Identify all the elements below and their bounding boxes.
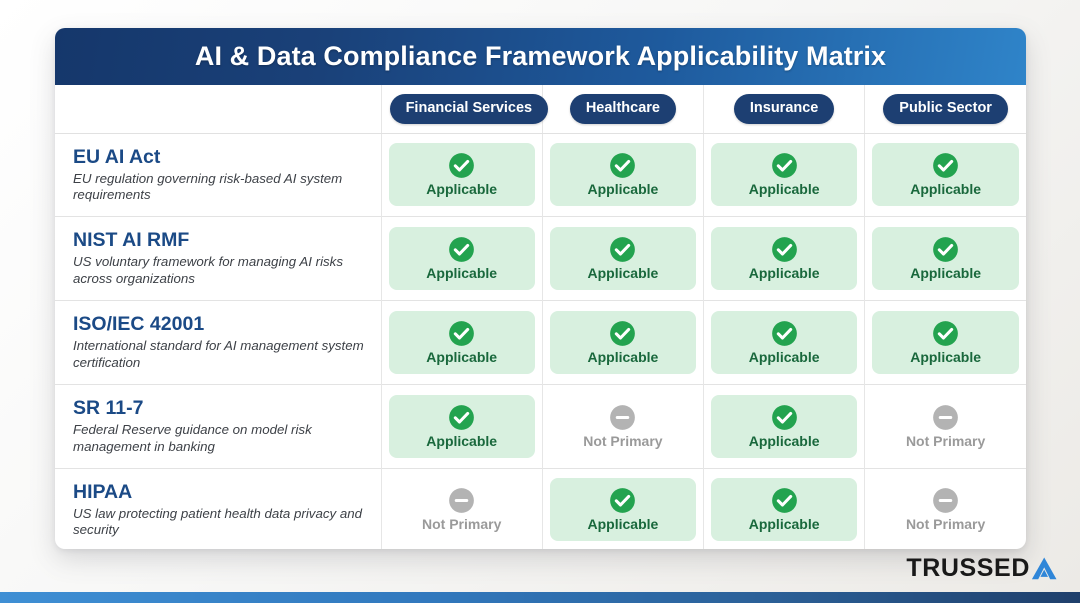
check-circle-icon	[932, 152, 959, 179]
column-header-cell: Insurance	[704, 85, 865, 133]
table-row: HIPAAUS law protecting patient health da…	[55, 468, 1026, 549]
framework-label-cell: SR 11-7Federal Reserve guidance on model…	[55, 384, 381, 468]
table-header: Financial Services Healthcare Insurance …	[55, 85, 1026, 133]
column-header-pill-financial-services[interactable]: Financial Services	[390, 94, 549, 124]
framework-label-cell: HIPAAUS law protecting patient health da…	[55, 468, 381, 549]
status-badge-applicable[interactable]: Applicable	[550, 227, 696, 290]
status-cell-wrapper: Applicable	[382, 221, 542, 296]
check-circle-icon	[609, 152, 636, 179]
status-cell-wrapper: Applicable	[704, 305, 864, 380]
status-cell[interactable]: Not Primary	[865, 384, 1026, 468]
status-badge-not-primary[interactable]: Not Primary	[872, 395, 1019, 458]
status-cell-wrapper: Applicable	[543, 137, 703, 212]
status-label: Applicable	[426, 182, 497, 196]
status-cell[interactable]: Applicable	[381, 384, 542, 468]
status-badge-not-primary[interactable]: Not Primary	[550, 395, 696, 458]
applicability-matrix-table: Financial Services Healthcare Insurance …	[55, 85, 1026, 549]
status-badge-applicable[interactable]: Applicable	[872, 311, 1019, 374]
check-circle-icon	[771, 320, 798, 347]
status-cell-wrapper: Applicable	[382, 305, 542, 380]
status-label: Applicable	[588, 182, 659, 196]
status-cell-wrapper: Applicable	[704, 389, 864, 464]
status-badge-applicable[interactable]: Applicable	[872, 227, 1019, 290]
status-badge-applicable[interactable]: Applicable	[389, 311, 535, 374]
minus-circle-icon	[932, 404, 959, 431]
framework-description: US law protecting patient health data pr…	[73, 506, 367, 540]
status-badge-applicable[interactable]: Applicable	[711, 478, 857, 541]
status-cell-wrapper: Applicable	[865, 137, 1026, 212]
check-circle-icon	[771, 487, 798, 514]
header-row: Financial Services Healthcare Insurance …	[55, 85, 1026, 133]
table-row: EU AI ActEU regulation governing risk-ba…	[55, 133, 1026, 217]
status-cell[interactable]: Not Primary	[542, 384, 703, 468]
status-label: Applicable	[910, 182, 981, 196]
status-badge-applicable[interactable]: Applicable	[389, 143, 535, 206]
framework-name: NIST AI RMF	[73, 229, 367, 252]
status-badge-applicable[interactable]: Applicable	[389, 227, 535, 290]
table-row: SR 11-7Federal Reserve guidance on model…	[55, 384, 1026, 468]
status-cell-wrapper: Applicable	[543, 472, 703, 547]
matrix-card: AI & Data Compliance Framework Applicabi…	[55, 28, 1026, 549]
status-label: Applicable	[426, 266, 497, 280]
status-label: Applicable	[588, 266, 659, 280]
check-circle-icon	[771, 404, 798, 431]
status-label: Not Primary	[906, 517, 985, 531]
status-cell-wrapper: Applicable	[543, 221, 703, 296]
status-badge-not-primary[interactable]: Not Primary	[872, 478, 1019, 541]
status-badge-applicable[interactable]: Applicable	[711, 227, 857, 290]
check-circle-icon	[932, 236, 959, 263]
status-cell[interactable]: Applicable	[381, 133, 542, 217]
status-cell-wrapper: Applicable	[865, 305, 1026, 380]
status-badge-applicable[interactable]: Applicable	[711, 395, 857, 458]
status-label: Not Primary	[906, 434, 985, 448]
status-cell-wrapper: Applicable	[382, 389, 542, 464]
status-cell-wrapper: Not Primary	[543, 389, 703, 464]
status-cell[interactable]: Applicable	[381, 301, 542, 385]
status-cell[interactable]: Applicable	[865, 133, 1026, 217]
status-cell[interactable]: Applicable	[542, 468, 703, 549]
framework-name: SR 11-7	[73, 397, 367, 420]
brand-logo: TRUSSED	[906, 556, 1058, 581]
status-label: Applicable	[749, 517, 820, 531]
title-banner: AI & Data Compliance Framework Applicabi…	[55, 28, 1026, 85]
status-label: Applicable	[910, 350, 981, 364]
framework-name: ISO/IEC 42001	[73, 313, 367, 336]
check-circle-icon	[771, 152, 798, 179]
status-label: Applicable	[749, 266, 820, 280]
column-header-pill-public-sector[interactable]: Public Sector	[883, 94, 1008, 124]
status-cell[interactable]: Applicable	[865, 301, 1026, 385]
status-label: Not Primary	[583, 434, 662, 448]
status-cell[interactable]: Applicable	[704, 384, 865, 468]
status-cell-wrapper: Applicable	[704, 221, 864, 296]
framework-name: EU AI Act	[73, 146, 367, 169]
status-cell[interactable]: Not Primary	[381, 468, 542, 549]
status-badge-applicable[interactable]: Applicable	[550, 143, 696, 206]
status-cell[interactable]: Applicable	[704, 133, 865, 217]
status-badge-applicable[interactable]: Applicable	[711, 143, 857, 206]
status-cell-wrapper: Not Primary	[865, 472, 1026, 547]
corner-cell	[55, 85, 381, 133]
status-label: Applicable	[910, 266, 981, 280]
status-badge-applicable[interactable]: Applicable	[872, 143, 1019, 206]
table-row: NIST AI RMFUS voluntary framework for ma…	[55, 217, 1026, 301]
status-badge-applicable[interactable]: Applicable	[711, 311, 857, 374]
framework-label-cell: ISO/IEC 42001International standard for …	[55, 301, 381, 385]
status-cell-wrapper: Applicable	[704, 472, 864, 547]
check-circle-icon	[448, 320, 475, 347]
check-circle-icon	[932, 320, 959, 347]
column-header-pill-healthcare[interactable]: Healthcare	[570, 94, 676, 124]
status-label: Applicable	[426, 350, 497, 364]
minus-circle-icon	[932, 487, 959, 514]
status-cell-wrapper: Not Primary	[382, 472, 542, 547]
status-cell[interactable]: Applicable	[704, 468, 865, 549]
status-cell[interactable]: Applicable	[704, 217, 865, 301]
status-label: Applicable	[588, 517, 659, 531]
minus-circle-icon	[609, 404, 636, 431]
status-cell[interactable]: Applicable	[865, 217, 1026, 301]
page-title: AI & Data Compliance Framework Applicabi…	[195, 41, 886, 72]
status-label: Applicable	[749, 434, 820, 448]
column-header-cell: Public Sector	[865, 85, 1026, 133]
check-circle-icon	[609, 487, 636, 514]
status-cell[interactable]: Applicable	[381, 217, 542, 301]
table-body: EU AI ActEU regulation governing risk-ba…	[55, 133, 1026, 549]
minus-circle-icon	[448, 487, 475, 514]
status-cell-wrapper: Applicable	[382, 137, 542, 212]
column-header-cell: Financial Services	[381, 85, 542, 133]
framework-description: US voluntary framework for managing AI r…	[73, 254, 367, 288]
status-cell[interactable]: Applicable	[704, 301, 865, 385]
status-badge-applicable[interactable]: Applicable	[550, 311, 696, 374]
check-circle-icon	[448, 404, 475, 431]
check-circle-icon	[448, 152, 475, 179]
status-label: Applicable	[588, 350, 659, 364]
status-cell-wrapper: Not Primary	[865, 389, 1026, 464]
check-circle-icon	[609, 236, 636, 263]
check-circle-icon	[448, 236, 475, 263]
ai-triangle-mark-icon	[1031, 556, 1058, 581]
framework-description: EU regulation governing risk-based AI sy…	[73, 171, 367, 205]
status-label: Not Primary	[422, 517, 501, 531]
check-circle-icon	[609, 320, 636, 347]
status-cell-wrapper: Applicable	[543, 305, 703, 380]
status-cell-wrapper: Applicable	[865, 221, 1026, 296]
column-header-pill-insurance[interactable]: Insurance	[734, 94, 835, 124]
status-badge-applicable[interactable]: Applicable	[550, 478, 696, 541]
status-cell[interactable]: Applicable	[542, 301, 703, 385]
framework-description: International standard for AI management…	[73, 338, 367, 372]
framework-label-cell: NIST AI RMFUS voluntary framework for ma…	[55, 217, 381, 301]
status-cell[interactable]: Applicable	[542, 217, 703, 301]
check-circle-icon	[771, 236, 798, 263]
status-label: Applicable	[426, 434, 497, 448]
framework-name: HIPAA	[73, 481, 367, 504]
status-cell[interactable]: Applicable	[542, 133, 703, 217]
column-header-cell: Healthcare	[542, 85, 703, 133]
framework-description: Federal Reserve guidance on model risk m…	[73, 422, 367, 456]
logo-wordmark: TRUSSED	[906, 556, 1030, 581]
status-label: Applicable	[749, 350, 820, 364]
bottom-accent-bar	[0, 592, 1080, 603]
status-badge-not-primary[interactable]: Not Primary	[389, 478, 535, 541]
status-cell[interactable]: Not Primary	[865, 468, 1026, 549]
status-label: Applicable	[749, 182, 820, 196]
status-badge-applicable[interactable]: Applicable	[389, 395, 535, 458]
table-row: ISO/IEC 42001International standard for …	[55, 301, 1026, 385]
framework-label-cell: EU AI ActEU regulation governing risk-ba…	[55, 133, 381, 217]
status-cell-wrapper: Applicable	[704, 137, 864, 212]
